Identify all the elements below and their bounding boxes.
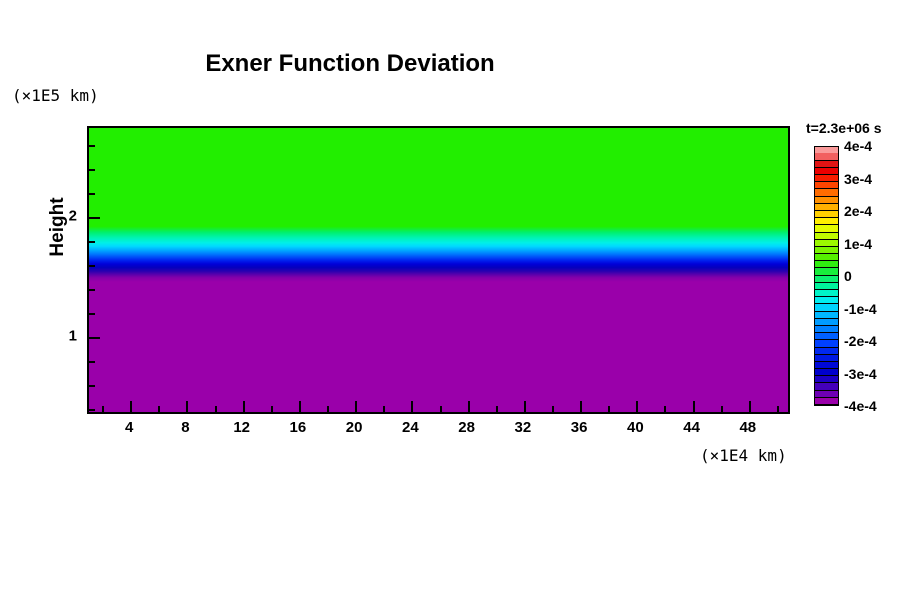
x-axis-minor-tick (552, 406, 554, 412)
colorbar-band (815, 261, 838, 268)
y-axis-units-label: (×1E5 km) (12, 86, 99, 105)
x-axis-tick-label: 16 (290, 419, 307, 436)
colorbar-tick-label: 0 (844, 268, 852, 284)
x-axis-major-tick (749, 401, 751, 412)
colorbar-tick-label: -3e-4 (844, 366, 877, 382)
x-axis-major-tick (130, 401, 132, 412)
y-axis-tick-label: 1 (59, 328, 77, 345)
x-axis-major-tick (468, 401, 470, 412)
y-axis-minor-tick (89, 265, 95, 267)
colorbar-band (815, 312, 838, 319)
y-axis-major-tick (89, 337, 100, 339)
y-axis-tick-labels: 12 (55, 126, 77, 414)
x-axis-tick-label: 36 (571, 419, 588, 436)
colorbar-band (815, 168, 838, 175)
colorbar-band (815, 369, 838, 376)
x-axis-minor-tick (440, 406, 442, 412)
x-axis-minor-tick (158, 406, 160, 412)
colorbar-band (815, 225, 838, 232)
y-axis-minor-tick (89, 361, 95, 363)
colorbar-tick-label: 4e-4 (844, 138, 872, 154)
y-axis-minor-tick (89, 169, 95, 171)
colorbar-tick-label: -1e-4 (844, 301, 877, 317)
x-axis-tick-label: 40 (627, 419, 644, 436)
colorbar-tick-labels: 4e-43e-42e-41e-40-1e-4-2e-4-3e-4-4e-4 (842, 146, 900, 406)
x-axis-major-tick (243, 401, 245, 412)
y-axis-minor-tick (89, 385, 95, 387)
x-axis-minor-tick (327, 406, 329, 412)
x-axis-tick-label: 44 (683, 419, 700, 436)
contour-field-image (89, 128, 788, 412)
colorbar-band (815, 319, 838, 326)
colorbar-band (815, 276, 838, 283)
colorbar-band (815, 304, 838, 311)
x-axis-major-tick (524, 401, 526, 412)
x-axis-minor-tick (215, 406, 217, 412)
colorbar-strip (814, 146, 839, 406)
colorbar-band (815, 391, 838, 398)
colorbar-tick-label: -4e-4 (844, 398, 877, 414)
colorbar-band (815, 211, 838, 218)
x-axis-major-tick (186, 401, 188, 412)
plot-area[interactable] (87, 126, 790, 414)
y-axis-minor-tick (89, 241, 95, 243)
x-axis-tick-label: 48 (739, 419, 756, 436)
colorbar-band (815, 233, 838, 240)
x-axis-tick-label: 24 (402, 419, 419, 436)
colorbar-band (815, 268, 838, 275)
colorbar-band (815, 362, 838, 369)
colorbar-tick-label: 3e-4 (844, 171, 872, 187)
x-axis-major-tick (693, 401, 695, 412)
y-axis-major-tick (89, 217, 100, 219)
y-axis-minor-tick (89, 289, 95, 291)
colorbar-band (815, 290, 838, 297)
colorbar-band (815, 283, 838, 290)
x-axis-major-tick (411, 401, 413, 412)
x-axis-tick-label: 32 (515, 419, 532, 436)
colorbar-band (815, 355, 838, 362)
x-axis-minor-tick (102, 406, 104, 412)
y-axis-tick-label: 2 (59, 208, 77, 225)
colorbar-band (815, 254, 838, 261)
x-axis-minor-tick (496, 406, 498, 412)
y-axis-minor-tick (89, 145, 95, 147)
colorbar-tick-label: -2e-4 (844, 333, 877, 349)
y-axis-minor-tick (89, 313, 95, 315)
x-axis-minor-tick (608, 406, 610, 412)
x-axis-major-tick (636, 401, 638, 412)
x-axis-tick-label: 4 (125, 419, 133, 436)
colorbar-band (815, 333, 838, 340)
y-axis-minor-tick (89, 193, 95, 195)
x-axis-tick-label: 8 (181, 419, 189, 436)
colorbar-band (815, 340, 838, 347)
colorbar-band (815, 218, 838, 225)
y-axis-minor-tick (89, 409, 95, 411)
colorbar-band (815, 247, 838, 254)
colorbar-band (815, 383, 838, 390)
colorbar-band (815, 189, 838, 196)
colorbar-band (815, 153, 838, 160)
x-axis-minor-tick (777, 406, 779, 412)
colorbar-band (815, 398, 838, 405)
colorbar-band (815, 161, 838, 168)
x-axis-major-tick (580, 401, 582, 412)
colorbar-band (815, 197, 838, 204)
colorbar-band (815, 175, 838, 182)
x-axis-major-tick (299, 401, 301, 412)
x-axis-minor-tick (664, 406, 666, 412)
page-title: Exner Function Deviation (0, 50, 700, 78)
colorbar-band (815, 326, 838, 333)
x-axis-tick-label: 20 (346, 419, 363, 436)
colorbar-band (815, 376, 838, 383)
x-axis-major-tick (355, 401, 357, 412)
colorbar-band (815, 240, 838, 247)
colorbar-band (815, 204, 838, 211)
x-axis-minor-tick (271, 406, 273, 412)
colorbar-band (815, 182, 838, 189)
colorbar-tick-label: 1e-4 (844, 236, 872, 252)
colorbar-time-annotation: t=2.3e+06 s (806, 120, 882, 136)
x-axis-minor-tick (721, 406, 723, 412)
colorbar-band (815, 348, 838, 355)
x-axis-units-label: (×1E4 km) (700, 446, 787, 465)
x-axis-minor-tick (383, 406, 385, 412)
x-axis-tick-label: 12 (233, 419, 250, 436)
colorbar-band (815, 297, 838, 304)
colorbar-tick-label: 2e-4 (844, 203, 872, 219)
x-axis-tick-label: 28 (458, 419, 475, 436)
